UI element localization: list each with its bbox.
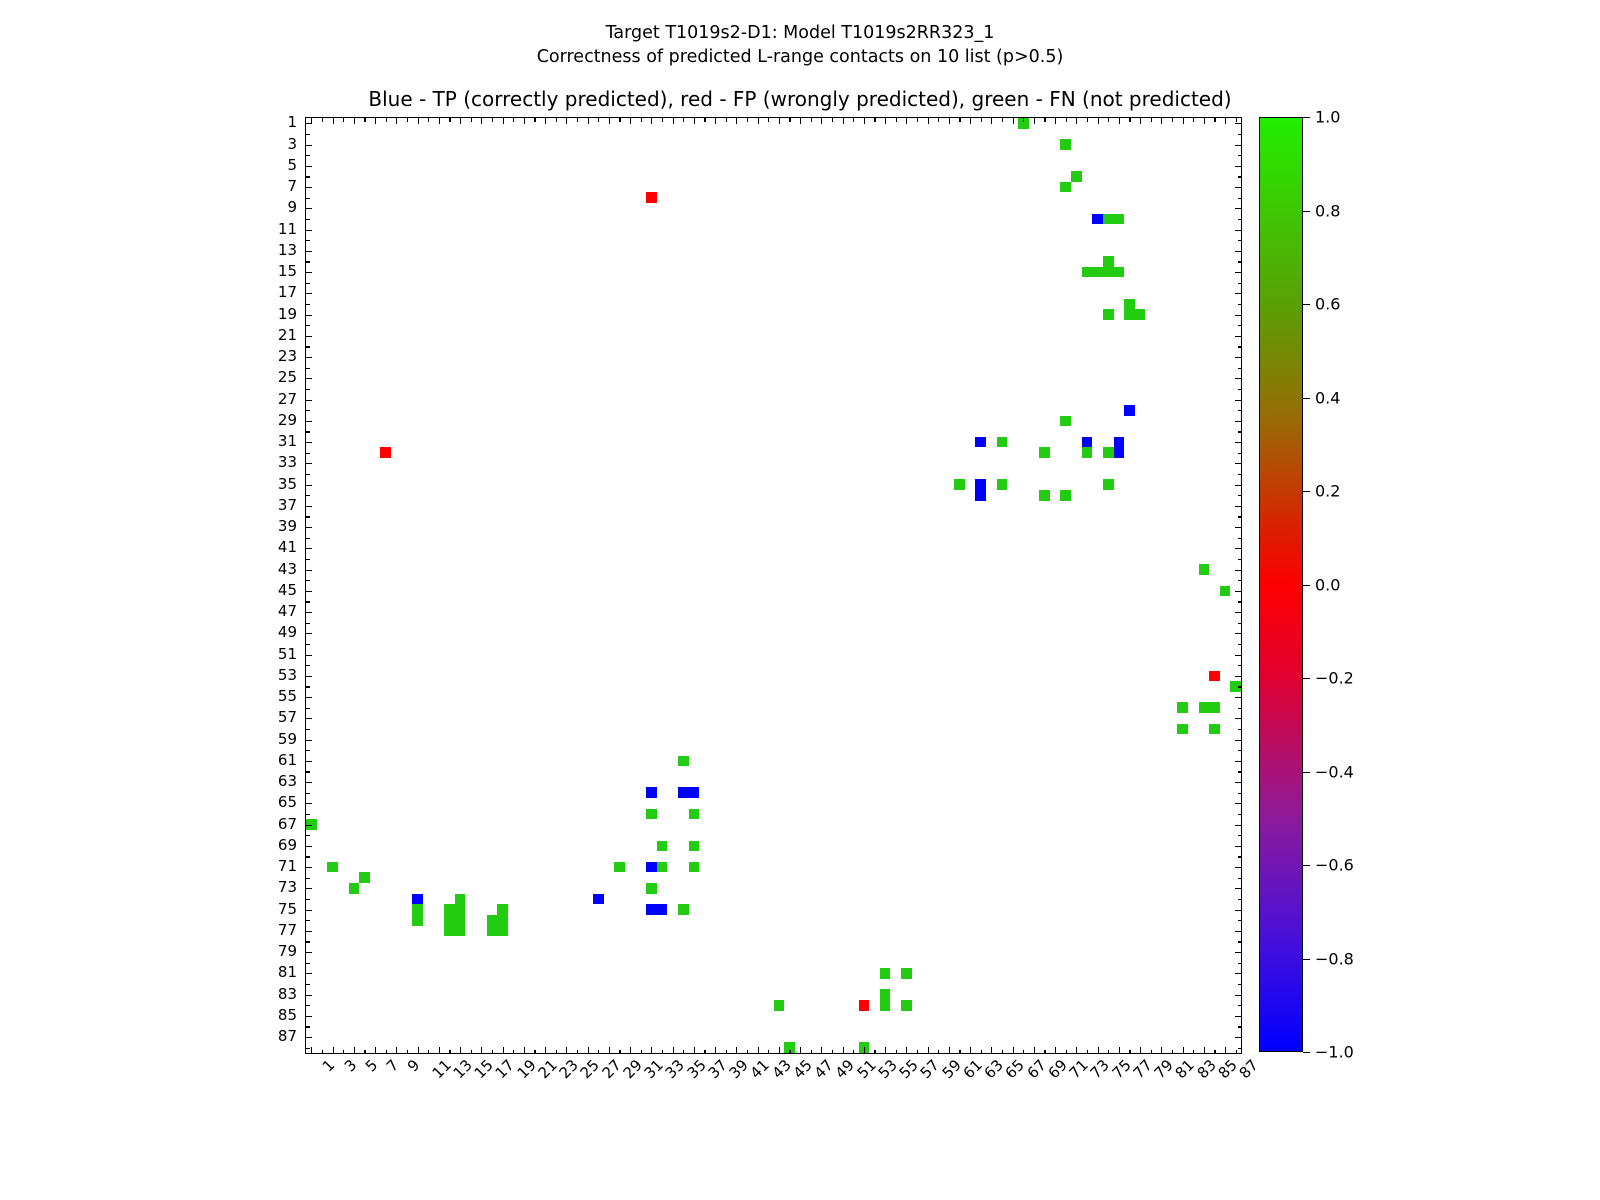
x-tick-bottom [938,1050,939,1054]
x-tick-top [874,118,875,122]
y-tick-left [306,920,310,921]
y-tick-right [1235,293,1241,294]
contact-cell-fn [1060,182,1071,193]
colorbar[interactable]: 1.00.80.60.40.20.0−0.2−0.4−0.6−0.8−1.0 [1259,117,1303,1052]
contact-cell-fn [1103,214,1114,225]
x-tick-top [492,118,493,122]
y-tick-left [306,771,310,772]
y-tick-right [1238,920,1242,921]
contact-cell-fn [997,479,1008,490]
contact-cell-fn [455,904,466,915]
y-tick-right [1238,1026,1242,1027]
x-tick-top [768,118,769,122]
y-tick-left [306,176,310,177]
contact-cell-fn [1103,309,1114,320]
x-tick-top [906,118,907,124]
contact-cell-tp [593,894,604,905]
y-tick-right [1235,612,1241,613]
x-tick-top [1129,118,1130,122]
x-tick-bottom [736,1047,737,1053]
y-axis-labels: 1357911131517192123252729313335373941434… [255,117,297,1052]
x-tick-top [832,118,833,122]
contact-cell-tp [975,437,986,448]
x-tick-top [1236,118,1237,122]
contact-cell-fp [380,447,391,458]
contact-cell-fn [1039,447,1050,458]
y-axis-tick-label: 53 [278,666,297,684]
y-tick-left [306,145,312,146]
x-tick-bottom [439,1047,440,1053]
y-tick-left [306,825,312,826]
y-tick-left [306,856,310,857]
x-tick-bottom [981,1050,982,1054]
x-tick-top [588,118,589,124]
y-tick-left [306,644,310,645]
x-tick-bottom [1108,1050,1109,1054]
x-tick-bottom [1140,1047,1141,1053]
y-tick-right [1235,506,1241,507]
x-tick-bottom [1119,1047,1120,1053]
y-tick-right [1238,623,1242,624]
y-tick-right [1238,198,1242,199]
x-tick-bottom [343,1050,344,1054]
y-tick-right [1235,208,1241,209]
y-axis-tick-label: 69 [278,836,297,854]
colorbar-tick [1303,585,1310,586]
y-axis-tick-label: 51 [278,645,297,663]
x-tick-bottom [1013,1047,1014,1053]
contact-cell-fn [901,968,912,979]
contact-cell-fn [1114,267,1125,278]
x-tick-top [503,118,504,124]
y-tick-left [306,516,310,517]
x-tick-top [471,118,472,122]
x-tick-top [641,118,642,122]
y-tick-left [306,463,312,464]
y-tick-right [1235,187,1241,188]
y-tick-right [1235,1016,1241,1017]
x-tick-bottom [747,1050,748,1054]
y-tick-right [1238,729,1242,730]
y-tick-right [1238,410,1242,411]
x-tick-top [343,118,344,122]
y-tick-right [1235,400,1241,401]
x-tick-top [1172,118,1173,122]
contact-cell-fn [359,872,370,883]
contact-cell-fn [1082,267,1093,278]
y-tick-left [306,910,312,911]
contact-cell-fn [1209,702,1220,713]
y-axis-tick-label: 19 [278,305,297,323]
y-axis-tick-label: 37 [278,496,297,514]
x-tick-bottom [1087,1050,1088,1054]
contact-cell-fn [1039,490,1050,501]
x-tick-top [1193,118,1194,122]
y-tick-right [1235,761,1241,762]
contact-cell-fn [689,862,700,873]
y-tick-right [1235,655,1241,656]
y-axis-tick-label: 23 [278,347,297,365]
y-tick-left [306,240,310,241]
y-tick-left [306,474,310,475]
colorbar-tick-label: −0.2 [1315,669,1354,688]
x-tick-bottom [375,1047,376,1053]
y-tick-right [1238,176,1242,177]
x-tick-bottom [662,1050,663,1054]
y-axis-tick-label: 13 [278,241,297,259]
y-tick-right [1235,740,1241,741]
y-tick-left [306,931,312,932]
y-axis-tick-label: 27 [278,390,297,408]
x-tick-top [694,118,695,124]
x-tick-bottom [449,1050,450,1054]
contact-cell-fp [646,192,657,203]
x-tick-bottom [928,1047,929,1053]
y-tick-right [1238,665,1242,666]
x-tick-bottom [1225,1047,1226,1053]
x-tick-bottom [492,1050,493,1054]
y-axis-tick-label: 77 [278,921,297,939]
x-tick-top [821,118,822,124]
x-tick-top [1151,118,1152,122]
x-tick-top [864,118,865,124]
x-tick-bottom [598,1050,599,1054]
x-tick-bottom [1151,1050,1152,1054]
y-tick-left [306,612,312,613]
y-tick-left [306,803,312,804]
y-tick-right [1235,931,1241,932]
contact-cell-fn [1209,724,1220,735]
x-tick-bottom [364,1050,365,1054]
contact-cell-fn [880,968,891,979]
y-tick-left [306,952,312,953]
y-tick-right [1235,336,1241,337]
figure-suptitle: Target T1019s2-D1: Model T1019s2RR323_1 … [0,22,1600,69]
x-tick-bottom [779,1047,780,1053]
y-tick-right [1235,1037,1241,1038]
contact-cell-fn [455,926,466,937]
y-tick-right [1238,941,1242,942]
x-axis-tick-label: 9 [404,1056,423,1075]
x-tick-top [1183,118,1184,124]
colorbar-tick [1303,117,1310,118]
x-tick-bottom [609,1047,610,1053]
x-tick-top [917,118,918,122]
y-tick-left [306,389,310,390]
y-axis-tick-label: 39 [278,517,297,535]
contact-cell-fn [1071,171,1082,182]
y-tick-right [1238,686,1242,687]
contact-cell-fn [657,862,668,873]
y-tick-left [306,697,312,698]
x-tick-top [811,118,812,122]
y-tick-left [306,814,310,815]
x-tick-top [534,118,535,122]
y-tick-right [1238,963,1242,964]
x-tick-bottom [1098,1047,1099,1053]
x-tick-top [545,118,546,124]
y-tick-right [1238,771,1242,772]
y-tick-left [306,378,312,379]
y-tick-left [306,304,310,305]
contact-cell-tp [646,862,657,873]
y-axis-tick-label: 25 [278,368,297,386]
x-tick-top [704,118,705,122]
y-tick-left [306,442,312,443]
x-tick-bottom [311,1047,312,1053]
x-tick-top [1098,118,1099,124]
colorbar-tick [1303,959,1310,960]
contact-cell-fn [1103,447,1114,458]
y-tick-right [1235,846,1241,847]
y-axis-tick-label: 49 [278,623,297,641]
x-tick-bottom [651,1047,652,1053]
contact-map-plot-area[interactable] [305,117,1242,1054]
x-tick-top [460,118,461,124]
contact-cell-tp [646,904,657,915]
y-tick-right [1235,803,1241,804]
x-tick-top [1066,118,1067,122]
x-tick-bottom [545,1047,546,1053]
contact-cell-fn [412,915,423,926]
y-tick-left [306,888,312,889]
y-tick-left [306,1026,310,1027]
y-tick-left [306,251,312,252]
y-tick-right [1235,421,1241,422]
x-tick-bottom [789,1050,790,1054]
y-tick-left [306,293,312,294]
y-tick-right [1238,580,1242,581]
y-tick-left [306,995,312,996]
x-tick-top [885,118,886,124]
y-tick-right [1238,601,1242,602]
x-tick-top [715,118,716,124]
axes-title-legend: Blue - TP (correctly predicted), red - F… [0,86,1600,113]
contact-cell-fn [901,1000,912,1011]
y-tick-left [306,410,310,411]
y-tick-right [1238,155,1242,156]
x-tick-bottom [1193,1050,1194,1054]
y-tick-right [1235,442,1241,443]
contact-cell-fn [1060,416,1071,427]
contact-cell-fn [646,883,657,894]
x-tick-top [439,118,440,124]
y-tick-right [1238,261,1242,262]
x-tick-bottom [418,1047,419,1053]
contact-cell-fn [1135,309,1146,320]
y-tick-right [1235,867,1241,868]
y-axis-tick-label: 75 [278,900,297,918]
x-tick-top [758,118,759,124]
x-tick-bottom [428,1050,429,1054]
x-tick-top [598,118,599,122]
y-tick-left [306,686,310,687]
x-tick-bottom [471,1050,472,1054]
x-tick-bottom [683,1050,684,1054]
contact-cell-fn [678,756,689,767]
contact-cell-fn [455,894,466,905]
y-axis-tick-label: 81 [278,963,297,981]
x-tick-bottom [1236,1050,1237,1054]
y-tick-left [306,761,312,762]
y-axis-tick-label: 3 [287,135,297,153]
x-tick-top [418,118,419,124]
y-axis-tick-label: 55 [278,687,297,705]
contact-cell-fn [444,915,455,926]
y-tick-left [306,591,312,592]
y-tick-right [1238,368,1242,369]
x-tick-top [938,118,939,122]
x-tick-bottom [949,1047,950,1053]
y-tick-right [1238,793,1242,794]
y-axis-tick-label: 15 [278,262,297,280]
y-tick-right [1238,283,1242,284]
x-tick-bottom [513,1050,514,1054]
y-tick-right [1235,676,1241,677]
x-tick-top [1055,118,1056,124]
y-axis-tick-label: 29 [278,411,297,429]
x-tick-top [1140,118,1141,124]
y-axis-tick-label: 45 [278,581,297,599]
y-tick-right [1235,718,1241,719]
y-axis-tick-label: 57 [278,708,297,726]
x-tick-top [1044,118,1045,122]
x-tick-bottom [673,1047,674,1053]
x-tick-bottom [715,1047,716,1053]
x-axis-tick-label: 1 [319,1056,338,1075]
x-tick-top [928,118,929,124]
x-tick-bottom [354,1047,355,1053]
y-tick-left [306,453,310,454]
x-tick-top [364,118,365,122]
y-tick-right [1238,538,1242,539]
x-tick-bottom [694,1047,695,1053]
y-tick-left [306,400,312,401]
colorbar-tick-label: −1.0 [1315,1043,1354,1062]
y-tick-left [306,357,312,358]
x-tick-top [407,118,408,122]
y-tick-right [1235,995,1241,996]
x-tick-top [779,118,780,124]
y-tick-left [306,346,310,347]
y-tick-right [1238,708,1242,709]
y-tick-right [1235,973,1241,974]
y-axis-tick-label: 79 [278,942,297,960]
x-tick-bottom [1183,1047,1184,1053]
y-tick-left [306,708,310,709]
contact-cell-fn [1060,490,1071,501]
x-tick-top [1204,118,1205,124]
y-axis-tick-label: 61 [278,751,297,769]
contact-cell-tp [975,490,986,501]
x-tick-bottom [917,1050,918,1054]
x-tick-top [609,118,610,124]
y-axis-tick-label: 63 [278,772,297,790]
suptitle-line-2: Correctness of predicted L-range contact… [0,46,1600,70]
colorbar-tick [1303,1052,1310,1053]
contact-cell-fn [487,926,498,937]
contact-cell-fn [997,437,1008,448]
y-tick-right [1238,431,1242,432]
y-tick-left [306,283,310,284]
x-tick-top [566,118,567,124]
x-axis-tick-label: 3 [340,1056,359,1075]
y-tick-right [1238,304,1242,305]
colorbar-tick-label: −0.6 [1315,856,1354,875]
x-tick-top [1161,118,1162,124]
y-axis-tick-label: 43 [278,560,297,578]
y-tick-right [1235,888,1241,889]
x-tick-top [619,118,620,122]
x-tick-top [577,118,578,122]
y-tick-left [306,655,312,656]
y-tick-left [306,665,310,666]
colorbar-tick [1303,678,1310,679]
y-tick-left [306,325,310,326]
contact-cell-fn [1060,139,1071,150]
contact-cell-tp [678,787,689,798]
y-tick-right [1238,240,1242,241]
x-tick-top [354,118,355,124]
y-axis-tick-label: 47 [278,602,297,620]
x-tick-bottom [556,1050,557,1054]
y-tick-right [1235,272,1241,273]
y-tick-right [1238,495,1242,496]
contact-cell-tp [1082,437,1093,448]
colorbar-tick [1303,772,1310,773]
contact-cell-fn [678,904,689,915]
x-tick-top [1087,118,1088,122]
y-axis-tick-label: 17 [278,283,297,301]
y-tick-left [306,941,310,942]
y-tick-left [306,208,312,209]
y-tick-left [306,623,310,624]
y-axis-tick-label: 83 [278,985,297,1003]
x-tick-top [726,118,727,122]
x-tick-top [736,118,737,124]
colorbar-tick [1303,491,1310,492]
contact-cell-fn [1199,564,1210,575]
y-tick-left [306,548,312,549]
y-tick-right [1235,145,1241,146]
y-axis-tick-label: 67 [278,815,297,833]
x-tick-top [683,118,684,122]
y-axis-tick-label: 1 [287,113,297,131]
y-tick-right [1238,644,1242,645]
x-tick-bottom [619,1050,620,1054]
y-axis-tick-label: 11 [278,220,297,238]
x-tick-bottom [1076,1047,1077,1053]
y-axis-tick-label: 65 [278,793,297,811]
x-tick-bottom [885,1047,886,1053]
contact-cell-fn [1103,267,1114,278]
y-tick-right [1238,899,1242,900]
x-tick-top [651,118,652,124]
x-tick-top [673,118,674,124]
x-tick-top [630,118,631,124]
y-tick-left [306,1016,312,1017]
y-tick-right [1235,166,1241,167]
y-tick-right [1235,697,1241,698]
x-tick-top [970,118,971,124]
x-axis-tick-label: 7 [383,1056,402,1075]
contact-cell-fn [1124,309,1135,320]
x-tick-bottom [322,1050,323,1054]
x-tick-bottom [906,1047,907,1053]
x-tick-bottom [864,1047,865,1053]
x-axis-tick-label: 87 [1236,1056,1262,1082]
contact-cell-tp [657,904,668,915]
